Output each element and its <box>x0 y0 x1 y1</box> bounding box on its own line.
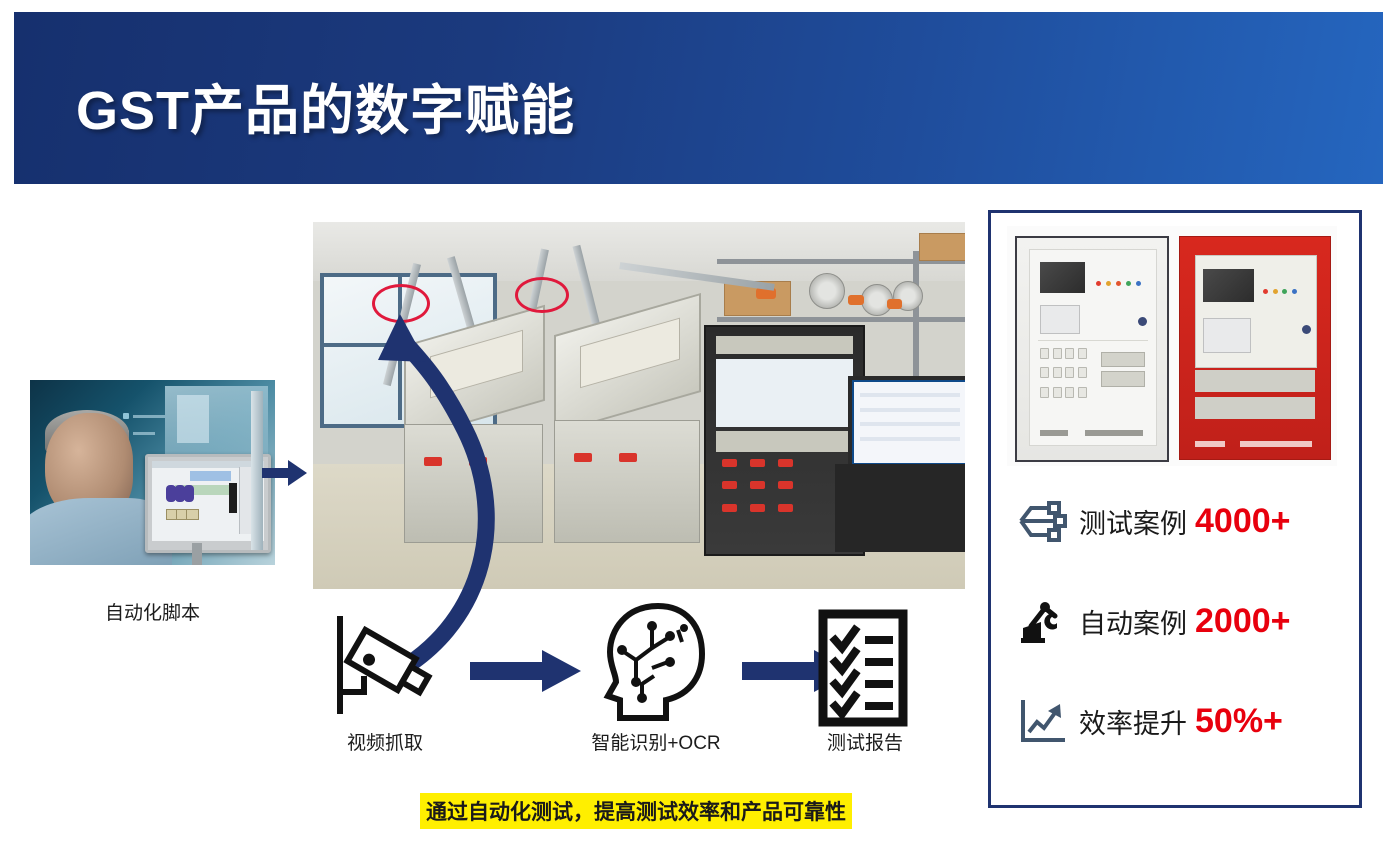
lab-rack-switch <box>778 504 793 512</box>
product-module-row <box>1195 397 1315 419</box>
product-label <box>1040 430 1068 436</box>
lab-rack-switch <box>750 459 765 467</box>
product-faceplate <box>1029 249 1157 446</box>
workflow-label-2: 智能识别+OCR <box>566 728 746 755</box>
lab-rack-row <box>716 431 854 451</box>
lab-rack-switch <box>750 504 765 512</box>
lab-rack-switch <box>722 481 737 489</box>
arrow-right-icon <box>470 648 582 699</box>
page-title: GST产品的数字赋能 <box>76 66 575 145</box>
photo-screen-button <box>186 509 199 520</box>
red-circle-highlight-icon <box>515 277 569 313</box>
product-faceplate <box>1195 255 1317 368</box>
product-key <box>1065 367 1074 378</box>
lab-monitor-row <box>860 422 960 426</box>
product-sub-display <box>1203 318 1251 353</box>
product-indicator <box>1116 281 1121 286</box>
automation-script-caption: 自动化脚本 <box>30 598 275 625</box>
photo-wall-display-inner <box>177 395 209 443</box>
product-key <box>1065 387 1074 398</box>
highlight-statement: 通过自动化测试，提高测试效率和产品可靠性 <box>420 793 852 829</box>
automation-script-photo <box>30 380 275 565</box>
lab-rack-row <box>716 336 854 354</box>
product-key <box>1040 348 1049 359</box>
photo-monitor-screen <box>152 461 264 541</box>
lab-monitor-row <box>860 408 960 412</box>
product-module-row <box>1195 370 1315 392</box>
lab-monitor-screen <box>854 382 965 462</box>
lab-rig-indicator <box>574 453 592 462</box>
product-key <box>1053 387 1062 398</box>
lab-monitor-row <box>860 393 960 397</box>
trend-chart-icon <box>1011 690 1073 752</box>
lab-rack-switch <box>778 481 793 489</box>
title-banner: GST产品的数字赋能 <box>14 12 1383 184</box>
results-panel: 测试案例 4000+ 自动案例 2000+ <box>988 210 1362 808</box>
lab-shelf <box>717 317 965 322</box>
lab-monitor <box>848 376 965 468</box>
product-key <box>1078 348 1087 359</box>
product-indicator <box>1263 289 1268 294</box>
robot-arm-icon <box>1011 590 1073 652</box>
stat-value: 4000+ <box>1195 502 1291 541</box>
product-photos <box>1007 226 1337 466</box>
lab-rack-switch <box>722 504 737 512</box>
stat-value: 50%+ <box>1195 702 1283 741</box>
product-module <box>1101 371 1146 387</box>
lab-rack-switch <box>722 459 737 467</box>
stat-label: 测试案例 <box>1079 502 1187 541</box>
lab-orange-part <box>887 299 902 309</box>
product-indicator <box>1106 281 1111 286</box>
photo-screen-knob <box>184 485 194 502</box>
stat-row: 自动案例 2000+ <box>1011 585 1341 657</box>
product-key <box>1040 387 1049 398</box>
stat-row: 测试案例 4000+ <box>1011 485 1341 557</box>
photo-monitor-stand <box>192 543 202 565</box>
lab-pc-tower <box>835 464 965 552</box>
product-red-control-panel <box>1179 236 1331 460</box>
circuit-node-icon <box>1011 490 1073 552</box>
product-lcd <box>1040 262 1085 293</box>
ai-head-icon <box>596 600 716 733</box>
product-label <box>1085 430 1143 436</box>
product-knob <box>1302 325 1311 334</box>
product-module <box>1101 352 1146 368</box>
product-indicator <box>1273 289 1278 294</box>
lab-orange-part <box>848 295 864 305</box>
photo-wall-post <box>251 391 263 550</box>
workflow-label-1: 视频抓取 <box>310 728 460 755</box>
stat-row: 效率提升 50%+ <box>1011 685 1341 757</box>
lab-monitor-row <box>860 437 960 441</box>
product-indicator <box>1136 281 1141 286</box>
checklist-report-icon <box>815 608 913 733</box>
product-key <box>1065 348 1074 359</box>
product-indicator <box>1292 289 1297 294</box>
product-sub-display <box>1040 305 1080 334</box>
product-indicator <box>1126 281 1131 286</box>
lab-detector-dome <box>809 273 845 309</box>
stat-label: 效率提升 <box>1079 702 1187 741</box>
product-key <box>1053 348 1062 359</box>
stat-label: 自动案例 <box>1079 602 1187 641</box>
product-label <box>1240 441 1312 447</box>
photo-screen-dark-area <box>229 483 237 513</box>
photo-screen-panel-blue <box>190 471 230 481</box>
product-white-control-panel <box>1015 236 1169 462</box>
photo-bullet-line <box>133 415 165 418</box>
product-label <box>1195 441 1225 447</box>
product-indicator <box>1096 281 1101 286</box>
product-key <box>1053 367 1062 378</box>
photo-bullet-line <box>133 432 155 435</box>
lab-rack-switch <box>778 459 793 467</box>
photo-bullet-dot <box>123 413 129 419</box>
product-knob <box>1138 317 1147 326</box>
lab-rack-display <box>716 359 854 427</box>
product-key <box>1078 367 1087 378</box>
lab-rig-indicator <box>619 453 637 462</box>
product-divider <box>1038 340 1149 341</box>
product-lcd <box>1203 269 1253 302</box>
product-key <box>1040 367 1049 378</box>
stat-value: 2000+ <box>1195 602 1291 641</box>
lab-carton <box>919 233 965 261</box>
lab-rig-cabinet <box>554 420 699 543</box>
workflow-label-3: 测试报告 <box>790 728 940 755</box>
lab-rack-switch <box>750 481 765 489</box>
product-key <box>1078 387 1087 398</box>
product-indicator <box>1282 289 1287 294</box>
camera-icon <box>330 610 440 725</box>
